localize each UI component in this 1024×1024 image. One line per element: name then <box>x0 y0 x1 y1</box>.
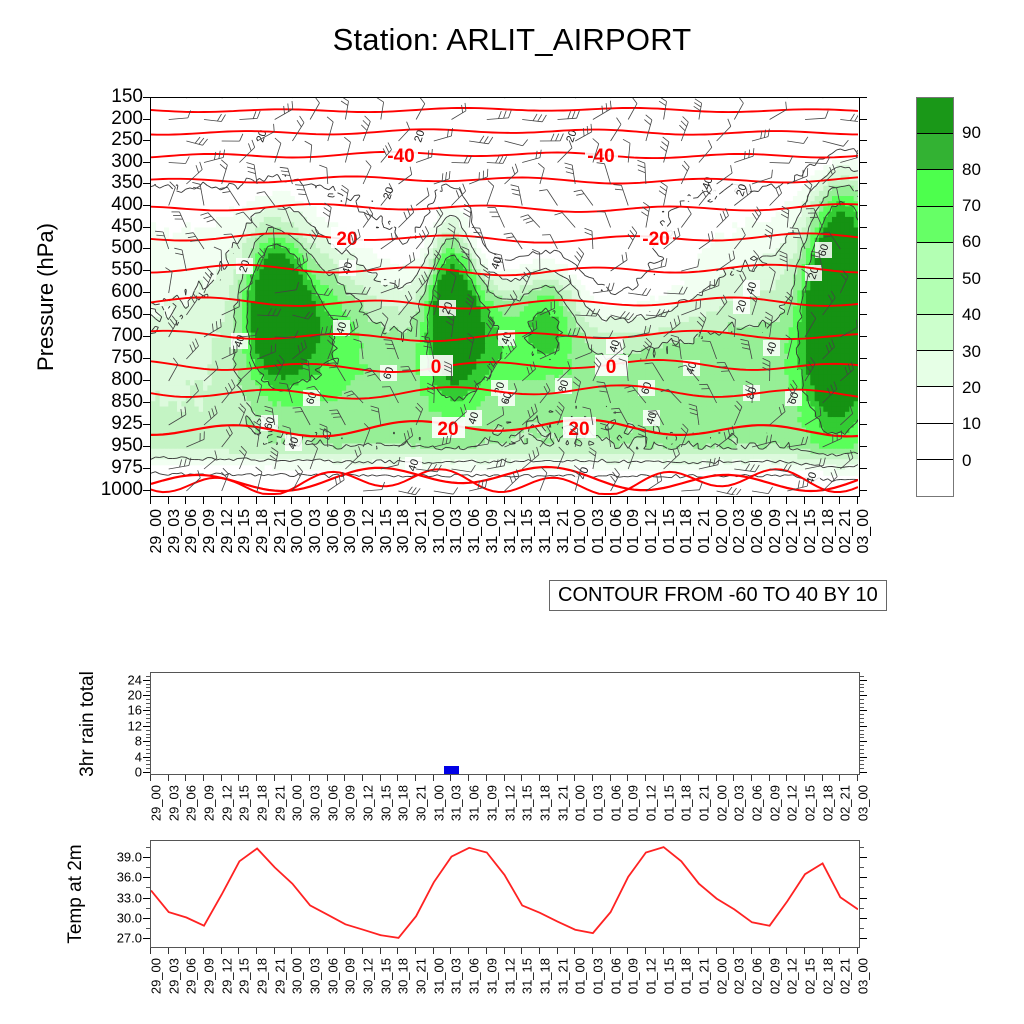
temp-tick <box>143 938 150 939</box>
time-tick <box>698 497 699 504</box>
pressure-tick-right <box>860 380 867 381</box>
rain-time-label: 31_15 <box>520 785 535 821</box>
colorbar-band <box>917 243 953 279</box>
temp-time-label: 02_12 <box>785 958 800 994</box>
pressure-tick <box>143 292 150 293</box>
temp-time-label: 31_00 <box>431 958 446 994</box>
rain-time-label: 02_00 <box>714 785 729 821</box>
temp-time-tick <box>804 948 805 954</box>
time-tick <box>751 497 752 504</box>
temp-time-tick <box>150 948 151 954</box>
colorbar-band <box>917 98 953 134</box>
rain-tick-label: 12 <box>118 718 142 733</box>
temp-time-tick <box>663 948 664 954</box>
temp-time-tick <box>645 948 646 954</box>
rain-time-tick <box>627 775 628 781</box>
pressure-tick-right <box>860 490 867 491</box>
temp-minor-tick-right <box>860 887 864 888</box>
rain-time-label: 31_12 <box>502 785 517 821</box>
time-tick <box>150 497 151 504</box>
time-tick <box>274 497 275 504</box>
temp-tick-right <box>860 918 867 919</box>
rain-time-label: 30_09 <box>343 785 358 821</box>
temp-time-label: 31_03 <box>449 958 464 994</box>
time-tick-label: 30_12 <box>360 509 378 554</box>
temp-time-label: 31_18 <box>537 958 552 994</box>
temp-time-tick <box>610 948 611 954</box>
temp-time-label: 31_21 <box>555 958 570 994</box>
rain-time-label: 31_09 <box>484 785 499 821</box>
time-tick <box>804 497 805 504</box>
rain-minor-tick-right <box>860 722 864 723</box>
rain-time-tick <box>539 775 540 781</box>
rain-minor-tick-right <box>860 718 864 719</box>
temp-time-label: 31_15 <box>520 958 535 994</box>
pressure-tick-label: 250 <box>87 129 143 151</box>
rain-time-tick <box>769 775 770 781</box>
time-tick-label: 31_15 <box>519 509 537 554</box>
rain-time-label: 29_06 <box>184 785 199 821</box>
time-tick-label: 29_15 <box>236 509 254 554</box>
time-tick-label: 01_15 <box>661 509 679 554</box>
rain-time-tick <box>433 775 434 781</box>
temp-time-tick <box>185 948 186 954</box>
pressure-tick-label: 700 <box>87 325 143 347</box>
temp-time-label: 29_09 <box>202 958 217 994</box>
rain-minor-tick-right <box>860 764 864 765</box>
rain-time-label: 29_18 <box>255 785 270 821</box>
time-tick-label: 31_21 <box>555 509 573 554</box>
rain-time-tick <box>415 775 416 781</box>
pressure-tick-right <box>860 424 867 425</box>
rain-tick-label: 24 <box>118 672 142 687</box>
pressure-tick <box>143 402 150 403</box>
temp-time-tick <box>344 948 345 954</box>
rain-time-tick <box>663 775 664 781</box>
temp-time-label: 01_06 <box>608 958 623 994</box>
temp-time-tick <box>839 948 840 954</box>
contour-note: CONTOUR FROM -60 TO 40 BY 10 <box>549 580 887 611</box>
pressure-tick-right <box>860 183 867 184</box>
pressure-tick <box>143 446 150 447</box>
rain-tick <box>143 680 150 681</box>
pressure-tick-label: 925 <box>87 413 143 435</box>
colorbar-band <box>917 460 953 496</box>
rain-tick <box>143 741 150 742</box>
rain-minor-tick <box>146 734 150 735</box>
colorbar-band <box>917 387 953 423</box>
sounding-contours: 2020202020202020202040404040404040404040… <box>151 98 858 495</box>
rain-minor-tick <box>146 749 150 750</box>
time-tick <box>574 497 575 504</box>
pressure-tick-right <box>860 358 867 359</box>
rain-minor-tick-right <box>860 676 864 677</box>
rain-time-label: 02_21 <box>838 785 853 821</box>
temp-time-tick <box>256 948 257 954</box>
time-tick-label: 29_06 <box>183 509 201 554</box>
pressure-tick-right <box>860 119 867 120</box>
colorbar-tick-label: 90 <box>962 123 981 143</box>
time-tick-label: 02_18 <box>820 509 838 554</box>
time-tick <box>309 497 310 504</box>
temp-time-label: 30_00 <box>290 958 305 994</box>
rain-time-tick <box>397 775 398 781</box>
rain-panel: 3hr rain total 0481216202429_0029_0329_0… <box>150 672 860 775</box>
time-tick <box>521 497 522 504</box>
pressure-tick-label: 950 <box>87 435 143 457</box>
temp-time-tick <box>521 948 522 954</box>
temp-time-tick <box>486 948 487 954</box>
rain-time-label: 02_18 <box>820 785 835 821</box>
pressure-tick-label: 500 <box>87 237 143 259</box>
rain-minor-tick <box>146 753 150 754</box>
temp-tick <box>143 918 150 919</box>
rain-time-tick <box>839 775 840 781</box>
pressure-tick-right <box>860 162 867 163</box>
rain-minor-tick <box>146 676 150 677</box>
rain-time-tick <box>486 775 487 781</box>
rain-minor-tick-right <box>860 699 864 700</box>
rain-minor-tick <box>146 745 150 746</box>
rain-tick-label: 4 <box>118 749 142 764</box>
rain-time-label: 30_03 <box>308 785 323 821</box>
colorbar-tick-label: 60 <box>962 232 981 252</box>
temp-time-tick <box>380 948 381 954</box>
temp-time-label: 01_03 <box>590 958 605 994</box>
temp-time-label: 30_18 <box>396 958 411 994</box>
time-tick-label: 30_00 <box>289 509 307 554</box>
rain-time-tick <box>857 775 858 781</box>
temp-time-label: 30_06 <box>325 958 340 994</box>
temp-time-tick <box>468 948 469 954</box>
temp-time-tick <box>592 948 593 954</box>
temp-time-tick <box>397 948 398 954</box>
pressure-tick-label: 450 <box>87 216 143 238</box>
temp-line-series <box>151 841 858 946</box>
time-tick-label: 02_12 <box>784 509 802 554</box>
rain-minor-tick-right <box>860 684 864 685</box>
pressure-tick-label: 850 <box>87 391 143 413</box>
time-tick <box>627 497 628 504</box>
rain-time-tick <box>733 775 734 781</box>
time-tick <box>221 497 222 504</box>
page-title: Station: ARLIT_AIRPORT <box>0 22 1024 58</box>
time-tick <box>610 497 611 504</box>
rain-time-label: 31_03 <box>449 785 464 821</box>
rain-time-tick <box>751 775 752 781</box>
colorbar-tick-label: 30 <box>962 342 981 362</box>
pressure-tick <box>143 490 150 491</box>
temp-minor-tick <box>146 908 150 909</box>
temp-panel: Temp at 2m 27.030.033.036.039.029_0029_0… <box>150 840 860 948</box>
colorbar-tick-label: 10 <box>962 414 981 434</box>
rain-time-tick <box>168 775 169 781</box>
temp-minor-tick <box>146 867 150 868</box>
time-tick <box>168 497 169 504</box>
time-tick <box>645 497 646 504</box>
rain-time-label: 01_12 <box>643 785 658 821</box>
rain-time-label: 29_00 <box>149 785 164 821</box>
temp-tick-label: 27.0 <box>108 931 142 946</box>
temp-minor-tick <box>146 847 150 848</box>
rain-tick-right <box>860 726 867 727</box>
temp-tick-label: 36.0 <box>108 870 142 885</box>
pressure-tick <box>143 358 150 359</box>
pressure-tick-label: 350 <box>87 172 143 194</box>
sounding-plot-area: 2020202020202020202040404040404040404040… <box>150 97 860 497</box>
pressure-tick-right <box>860 292 867 293</box>
rain-bar <box>444 766 459 774</box>
pressure-tick-label: 150 <box>87 86 143 108</box>
pressure-tick-right <box>860 227 867 228</box>
rain-time-tick <box>150 775 151 781</box>
pressure-tick-right <box>860 140 867 141</box>
rain-time-label: 30_21 <box>414 785 429 821</box>
pressure-tick-label: 400 <box>87 194 143 216</box>
temp-time-label: 29_03 <box>166 958 181 994</box>
temp-tick-label: 33.0 <box>108 890 142 905</box>
pressure-tick <box>143 140 150 141</box>
rain-time-label: 30_15 <box>378 785 393 821</box>
time-tick-label: 29_03 <box>166 509 184 554</box>
rain-tick <box>143 726 150 727</box>
rain-time-tick <box>822 775 823 781</box>
temp-tick-right <box>860 938 867 939</box>
temp-time-tick <box>309 948 310 954</box>
rain-minor-tick-right <box>860 734 864 735</box>
temp-time-label: 30_15 <box>378 958 393 994</box>
rain-time-tick <box>450 775 451 781</box>
temp-time-label: 29_06 <box>184 958 199 994</box>
temp-time-label: 01_18 <box>679 958 694 994</box>
rain-time-tick <box>716 775 717 781</box>
rain-tick-label: 20 <box>118 688 142 703</box>
rain-time-tick <box>610 775 611 781</box>
rain-time-label: 01_00 <box>573 785 588 821</box>
time-tick-label: 02_00 <box>714 509 732 554</box>
temp-time-label: 29_12 <box>219 958 234 994</box>
rain-time-tick <box>238 775 239 781</box>
pressure-tick-right <box>860 248 867 249</box>
rain-time-label: 02_12 <box>785 785 800 821</box>
temp-time-label: 30_21 <box>414 958 429 994</box>
rain-tick <box>143 772 150 773</box>
time-tick <box>362 497 363 504</box>
pressure-tick-label: 650 <box>87 303 143 325</box>
rain-tick <box>143 695 150 696</box>
temp-tick-right <box>860 898 867 899</box>
rain-time-label: 01_06 <box>608 785 623 821</box>
rain-minor-tick-right <box>860 687 864 688</box>
pressure-tick <box>143 248 150 249</box>
rain-time-tick <box>327 775 328 781</box>
pressure-tick <box>143 270 150 271</box>
temp-time-tick <box>433 948 434 954</box>
rain-time-label: 02_09 <box>767 785 782 821</box>
temp-time-label: 29_18 <box>255 958 270 994</box>
time-tick-label: 02_03 <box>731 509 749 554</box>
rain-minor-tick <box>146 722 150 723</box>
temp-time-tick <box>751 948 752 954</box>
rain-tick-label: 8 <box>118 734 142 749</box>
rain-time-tick <box>221 775 222 781</box>
time-tick-label: 31_03 <box>448 509 466 554</box>
temp-minor-tick-right <box>860 908 864 909</box>
rain-time-label: 29_03 <box>166 785 181 821</box>
time-tick-label: 30_18 <box>395 509 413 554</box>
pressure-tick-label: 1000 <box>87 479 143 501</box>
rain-time-tick <box>521 775 522 781</box>
rain-minor-tick-right <box>860 707 864 708</box>
sounding-panel: Pressure (hPa) 2020202020202020202040404… <box>150 97 860 497</box>
time-tick-label: 01_03 <box>590 509 608 554</box>
pressure-tick-label: 200 <box>87 108 143 130</box>
time-tick-label: 01_00 <box>572 509 590 554</box>
time-tick <box>468 497 469 504</box>
time-tick <box>256 497 257 504</box>
time-tick <box>397 497 398 504</box>
time-tick <box>415 497 416 504</box>
rain-time-tick <box>504 775 505 781</box>
rain-time-label: 01_18 <box>679 785 694 821</box>
pressure-tick-right <box>860 205 867 206</box>
colorbar-band <box>917 134 953 170</box>
rain-minor-tick <box>146 718 150 719</box>
pressure-tick <box>143 162 150 163</box>
rain-time-tick <box>344 775 345 781</box>
rain-minor-tick <box>146 768 150 769</box>
rain-minor-tick <box>146 707 150 708</box>
temp-time-label: 01_15 <box>661 958 676 994</box>
temp-time-tick <box>786 948 787 954</box>
time-tick <box>486 497 487 504</box>
colorbar-tick-label: 0 <box>962 451 971 471</box>
rain-tick <box>143 757 150 758</box>
rain-minor-tick-right <box>860 737 864 738</box>
rain-tick-right <box>860 695 867 696</box>
temp-time-tick <box>504 948 505 954</box>
pressure-tick-right <box>860 336 867 337</box>
time-tick-label: 30_03 <box>307 509 325 554</box>
time-tick-label: 30_06 <box>325 509 343 554</box>
temp-time-label: 01_09 <box>626 958 641 994</box>
rain-minor-tick <box>146 714 150 715</box>
temp-time-label: 29_00 <box>149 958 164 994</box>
temp-tick <box>143 857 150 858</box>
pressure-tick <box>143 380 150 381</box>
temp-time-tick <box>822 948 823 954</box>
rain-minor-tick-right <box>860 691 864 692</box>
time-tick <box>433 497 434 504</box>
temp-time-label: 29_15 <box>237 958 252 994</box>
rain-tick-right <box>860 757 867 758</box>
temp-time-label: 31_06 <box>467 958 482 994</box>
time-tick-label: 30_15 <box>378 509 396 554</box>
rain-time-label: 29_12 <box>219 785 234 821</box>
time-tick-label: 01_09 <box>625 509 643 554</box>
pressure-tick-label: 550 <box>87 259 143 281</box>
temp-time-tick <box>238 948 239 954</box>
temp-time-label: 01_12 <box>643 958 658 994</box>
temp-time-tick <box>327 948 328 954</box>
time-tick <box>238 497 239 504</box>
rain-plot-area <box>150 672 860 775</box>
time-tick-label: 29_09 <box>201 509 219 554</box>
pressure-tick <box>143 97 150 98</box>
pressure-tick <box>143 424 150 425</box>
rain-time-label: 29_09 <box>202 785 217 821</box>
pressure-tick-right <box>860 314 867 315</box>
time-tick-label: 03_00 <box>855 509 873 554</box>
temp-time-label: 03_00 <box>856 958 871 994</box>
temp-time-tick <box>698 948 699 954</box>
time-tick-label: 31_06 <box>466 509 484 554</box>
temp-plot-area <box>150 840 860 948</box>
time-tick <box>822 497 823 504</box>
rain-minor-tick <box>146 760 150 761</box>
temp-time-label: 02_15 <box>802 958 817 994</box>
temp-time-label: 02_06 <box>749 958 764 994</box>
rain-time-label: 01_21 <box>696 785 711 821</box>
colorbar-tick-label: 80 <box>962 160 981 180</box>
rain-time-label: 03_00 <box>856 785 871 821</box>
temp-tick-label: 30.0 <box>108 910 142 925</box>
rain-minor-tick <box>146 684 150 685</box>
time-tick-label: 29_00 <box>148 509 166 554</box>
temp-time-label: 01_00 <box>573 958 588 994</box>
pressure-tick <box>143 227 150 228</box>
rain-minor-tick-right <box>860 753 864 754</box>
time-tick-label: 02_09 <box>767 509 785 554</box>
time-tick <box>450 497 451 504</box>
rain-time-label: 01_15 <box>661 785 676 821</box>
time-tick <box>380 497 381 504</box>
temp-tick <box>143 877 150 878</box>
rain-time-label: 29_15 <box>237 785 252 821</box>
time-tick-label: 01_18 <box>678 509 696 554</box>
temp-time-tick <box>362 948 363 954</box>
temp-time-tick <box>203 948 204 954</box>
rain-time-label: 31_00 <box>431 785 446 821</box>
temp-time-label: 31_12 <box>502 958 517 994</box>
colorbar-band <box>917 207 953 243</box>
rain-time-tick <box>557 775 558 781</box>
rain-minor-tick <box>146 699 150 700</box>
time-tick-label: 31_00 <box>431 509 449 554</box>
rain-minor-tick <box>146 764 150 765</box>
pressure-tick <box>143 183 150 184</box>
rain-minor-tick-right <box>860 714 864 715</box>
rain-time-tick <box>185 775 186 781</box>
time-tick <box>327 497 328 504</box>
temp-tick-label: 39.0 <box>108 849 142 864</box>
time-tick <box>539 497 540 504</box>
temp-time-label: 02_03 <box>732 958 747 994</box>
temp-tick-right <box>860 877 867 878</box>
temp-minor-tick <box>146 928 150 929</box>
temp-time-tick <box>274 948 275 954</box>
temp-time-tick <box>857 948 858 954</box>
rain-minor-tick <box>146 691 150 692</box>
colorbar-tick-label: 70 <box>962 196 981 216</box>
time-tick-label: 31_09 <box>484 509 502 554</box>
time-tick-label: 02_15 <box>802 509 820 554</box>
temp-minor-tick-right <box>860 867 864 868</box>
rain-time-label: 30_06 <box>325 785 340 821</box>
colorbar-tick-label: 50 <box>962 269 981 289</box>
colorbar <box>916 97 954 497</box>
temp-time-label: 30_03 <box>308 958 323 994</box>
